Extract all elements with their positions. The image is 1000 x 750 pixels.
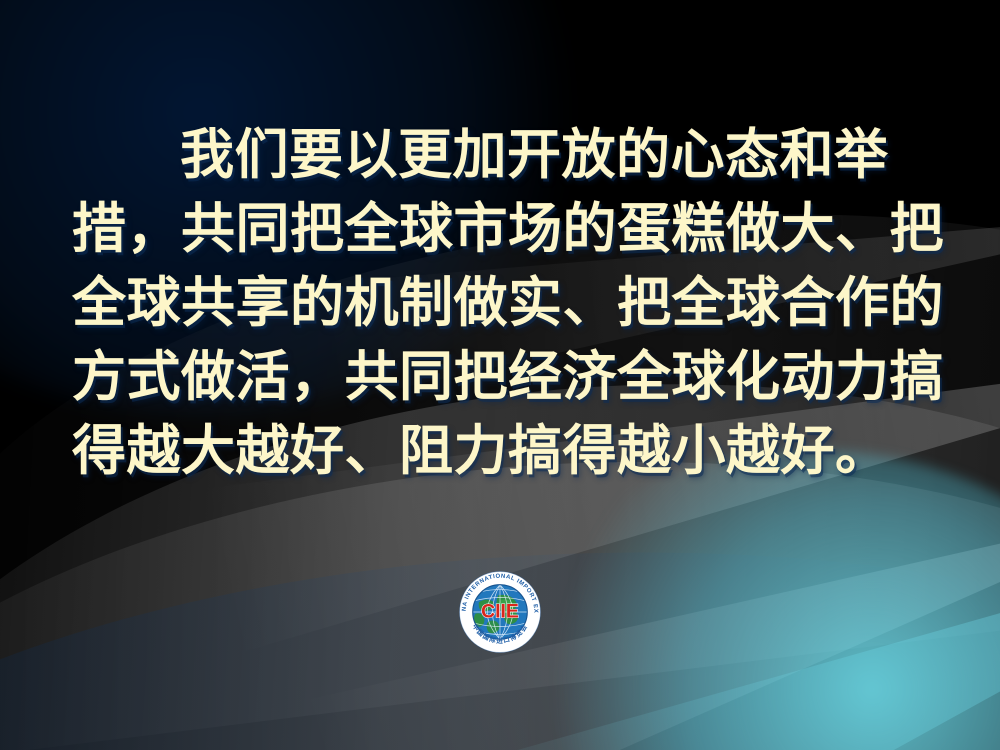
- background-cyan-bloom: [500, 450, 1000, 750]
- ciie-logo: CHINA INTERNATIONAL IMPORT EXPO 中国国际进口博览…: [456, 568, 544, 656]
- quote-line-4: 方式做活，共同把经济全球化动力搞: [72, 340, 928, 414]
- quote-block: 我们要以更加开放的心态和举 措，共同把全球市场的蛋糕做大、把 全球共享的机制做实…: [0, 118, 1000, 488]
- poster-canvas: 我们要以更加开放的心态和举 措，共同把全球市场的蛋糕做大、把 全球共享的机制做实…: [0, 0, 1000, 750]
- quote-line-5: 得越大越好、阻力搞得越小越好。: [72, 414, 928, 488]
- quote-line-2: 措，共同把全球市场的蛋糕做大、把: [72, 192, 928, 266]
- quote-line-3: 全球共享的机制做实、把全球合作的: [72, 266, 928, 340]
- logo-acronym: CIIE: [481, 600, 519, 622]
- quote-line-1: 我们要以更加开放的心态和举: [72, 118, 928, 192]
